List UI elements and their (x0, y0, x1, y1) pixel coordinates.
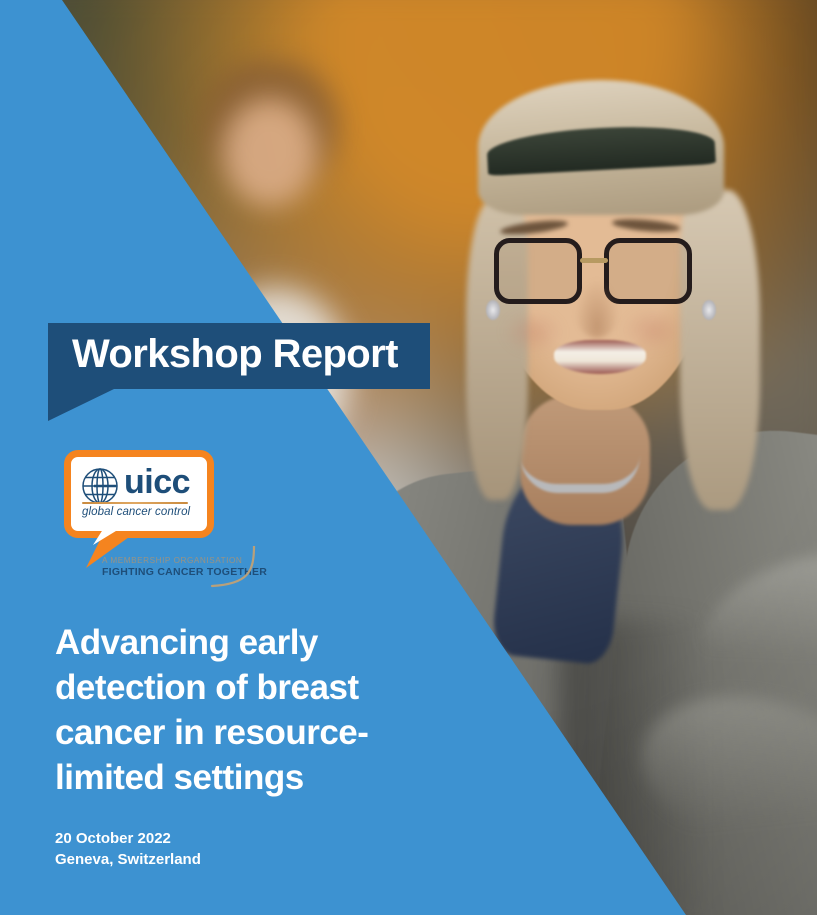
banner-label: Workshop Report (72, 323, 398, 389)
workshop-report-banner: Workshop Report (48, 323, 430, 421)
title-line-3: cancer in resource- (55, 710, 435, 755)
title-line-4: limited settings (55, 755, 435, 800)
uicc-logo: uicc global cancer control A MEMBERSHIP … (58, 446, 278, 591)
uicc-divider-rule (82, 502, 188, 504)
event-details: 20 October 2022 Geneva, Switzerland (55, 828, 201, 870)
swoosh-icon (208, 546, 278, 590)
page-title: Advancing early detection of breast canc… (55, 620, 435, 800)
uicc-tagline: global cancer control (82, 506, 202, 518)
title-line-1: Advancing early (55, 620, 435, 665)
report-cover: Workshop Report uicc global (0, 0, 817, 915)
event-location: Geneva, Switzerland (55, 849, 201, 870)
title-line-2: detection of breast (55, 665, 435, 710)
banner-tail-icon (48, 389, 114, 421)
globe-icon (80, 466, 120, 506)
uicc-wordmark: uicc (124, 462, 190, 502)
event-date: 20 October 2022 (55, 828, 201, 849)
